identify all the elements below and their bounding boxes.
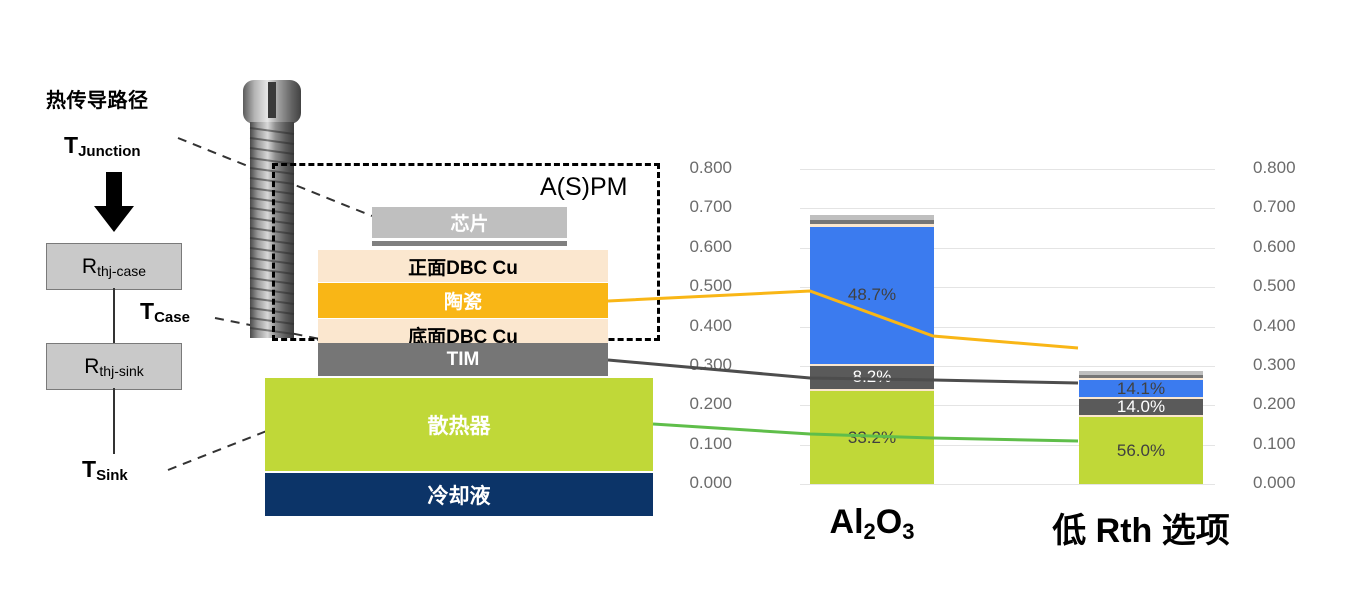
heatsink-connector [653, 424, 1078, 441]
ceramic-connector [608, 291, 1078, 348]
tim-connector [608, 360, 1078, 383]
stack-to-chart-connectors [0, 0, 1369, 597]
